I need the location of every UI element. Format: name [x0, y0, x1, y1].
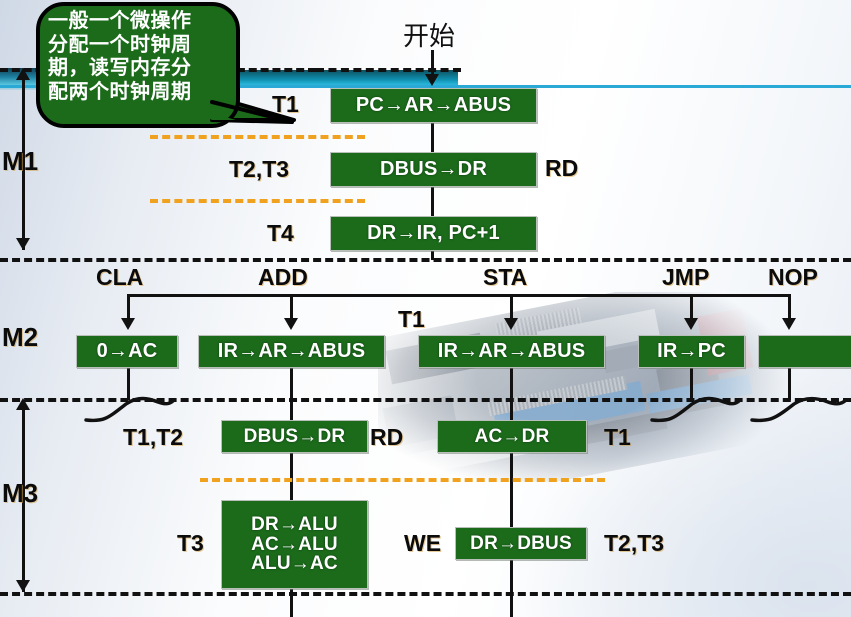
callout-line-3: 配两个时钟周期 — [48, 80, 228, 104]
cycle-label-m2: M2 — [2, 322, 38, 353]
m1-step-2-time: T4 — [267, 220, 294, 247]
m3-sta-step-0-time: T1 — [604, 424, 631, 451]
motherboard-background-photo — [378, 292, 798, 482]
m2-arrow-jmp — [684, 318, 698, 330]
callout-bubble: 一般一个微操作 分配一个时钟周 期，读写内存分 配两个时钟周期 — [36, 2, 238, 127]
m1-step-1-signal: RD — [545, 155, 578, 182]
m1-step-2-op[interactable]: DR→IR, PC+1 — [330, 216, 537, 251]
m1-step-1-time: T2,T3 — [229, 156, 289, 183]
m3-add-exit-stem — [290, 592, 293, 617]
m3-range-arrow-down — [16, 580, 30, 592]
callout-line-2: 期，读写内存分 — [48, 56, 228, 80]
m3-add-step-0-time: T1,T2 — [123, 424, 183, 451]
m3-sta-step-0-op[interactable]: AC→DR — [437, 420, 587, 453]
m2-branch-jmp-op[interactable]: IR→PC — [638, 335, 745, 368]
m3-add-step-1-time: T3 — [177, 530, 204, 557]
start-label: 开始 — [403, 16, 455, 53]
instruction-label-cla: CLA — [96, 264, 143, 291]
cla-return-curve — [82, 396, 178, 426]
m3-add-step-1-op[interactable]: DR→ALU AC→ALU ALU→AC — [221, 500, 368, 589]
cycle-label-m1: M1 — [2, 146, 38, 177]
instruction-label-nop: NOP — [768, 264, 818, 291]
flowchart-canvas: 开始 M1 T1 PC→AR→ABUS T2,T3 DBUS→DR RD T4 … — [0, 0, 851, 617]
start-arrow-head — [425, 74, 439, 86]
m2-jmp-out-stem — [690, 366, 693, 400]
m3-add-step-0-op[interactable]: DBUS→DR — [221, 420, 368, 453]
m1-step-1-op[interactable]: DBUS→DR — [330, 152, 537, 187]
m1-range-arrow-up — [16, 68, 30, 80]
m2-arrow-cla — [121, 318, 135, 330]
m2-branch-sta-op[interactable]: IR→AR→ABUS — [418, 335, 605, 368]
m3-sta-step-1-op[interactable]: DR→DBUS — [455, 527, 587, 560]
jmp-return-curve — [648, 396, 744, 426]
m2-add-out-stem — [290, 366, 293, 400]
m3-range-arrow-up — [16, 398, 30, 410]
m3-bottom-boundary — [0, 592, 851, 596]
m2-time-label: T1 — [398, 306, 425, 333]
m1-top-boundary-right — [316, 68, 461, 72]
m2-cla-out-stem — [127, 366, 130, 400]
m2-arrow-nop — [782, 318, 796, 330]
m2-nop-out-stem — [788, 366, 791, 400]
m1-step-0-op[interactable]: PC→AR→ABUS — [330, 88, 537, 123]
m1-m2-boundary — [0, 258, 851, 262]
instruction-label-sta: STA — [483, 264, 527, 291]
m3-sta-step-1-signal: WE — [404, 530, 441, 557]
m3-sta-exit-stem — [510, 592, 513, 617]
instruction-label-add: ADD — [258, 264, 308, 291]
m3-add-step-0-signal: RD — [370, 424, 403, 451]
m2-branch-nop-op[interactable] — [758, 335, 851, 368]
m2-arrow-sta — [504, 318, 518, 330]
m2-branch-add-op[interactable]: IR→AR→ABUS — [198, 335, 385, 368]
m3-sep-1 — [200, 478, 605, 482]
m3-sta-step-1-time: T2,T3 — [604, 530, 664, 557]
callout-line-1: 分配一个时钟周 — [48, 33, 228, 57]
instruction-label-jmp: JMP — [662, 264, 709, 291]
callout-line-0: 一般一个微操作 — [48, 9, 228, 33]
callout-text-block: 一般一个微操作 分配一个时钟周 期，读写内存分 配两个时钟周期 — [48, 9, 228, 103]
nop-return-curve — [748, 396, 848, 426]
m1-range-arrow-down — [16, 238, 30, 250]
cycle-label-m3: M3 — [2, 478, 38, 509]
m2-sta-out-stem — [510, 366, 513, 400]
m2-arrow-add — [284, 318, 298, 330]
m2-branch-cla-op[interactable]: 0→AC — [76, 335, 178, 368]
m1-sep-2 — [150, 199, 365, 203]
